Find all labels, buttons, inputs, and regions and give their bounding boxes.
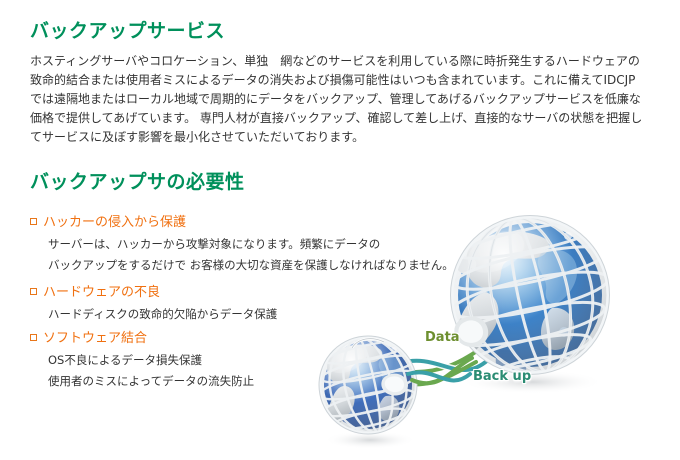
backup-flow-label: Back up (473, 369, 531, 384)
intro-line: ホスティングサーバやコロケーション、単独 網などのサービスを利用している際に時折… (30, 52, 650, 71)
bullet-title: ハッカーの侵入から保護 (43, 211, 186, 230)
intro-line: では遠隔地またはローカル地域で周期的にデータをバックアップ、管理してあげるバック… (30, 90, 650, 109)
intro-paragraph: ホスティングサーバやコロケーション、単独 網などのサービスを利用している際に時折… (30, 52, 650, 147)
page-root: バックアップサービス ホスティングサーバやコロケーション、単独 網などのサービス… (0, 0, 680, 460)
section-title-necessity: バックアップサの必要性 (30, 167, 245, 194)
two-globes-network-illustration (300, 200, 680, 460)
intro-line: 致命的結合または使用者ミスによるデータの消失および損傷可能性はいつも含まれていま… (30, 71, 650, 90)
intro-line: てサービスに及ぼす影響を最小化させていただいております。 (30, 128, 650, 147)
bullet-title: ソフトウェア結合 (43, 327, 147, 346)
bullet-title: ハードウェアの不良 (43, 281, 160, 300)
square-bullet-icon (30, 334, 37, 341)
page-title: バックアップサービス (30, 16, 225, 43)
data-flow-label: Data (425, 330, 460, 345)
intro-line: 価格で提供してあげています。 専門人材が直接バックアップ、確認して差し上げ、直接… (30, 109, 650, 128)
square-bullet-icon (30, 288, 37, 295)
square-bullet-icon (30, 218, 37, 225)
